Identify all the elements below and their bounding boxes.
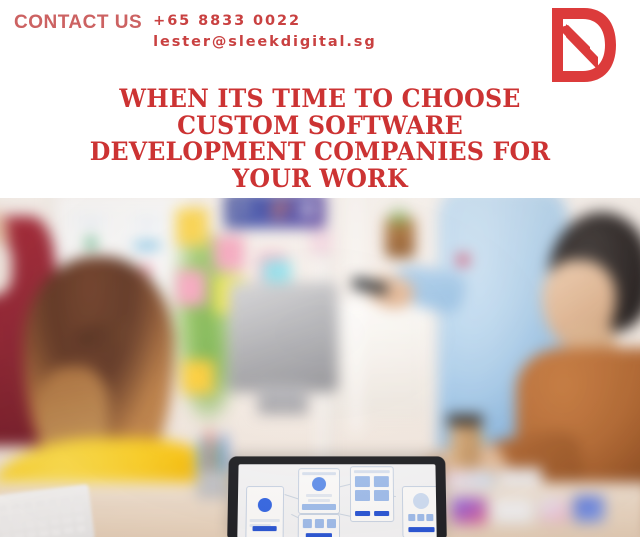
keyboard-keys <box>0 495 86 537</box>
desktop-monitor <box>228 282 338 392</box>
sticky-note <box>214 236 244 270</box>
contact-us-label: CONTACT US <box>14 10 142 36</box>
back-shelf <box>330 302 430 418</box>
laptop <box>227 456 447 537</box>
woman-hair-parting <box>74 318 139 352</box>
printed-design-card <box>492 498 534 524</box>
printed-design-card <box>498 468 542 484</box>
coffee-cup-lid <box>447 414 483 426</box>
window-frame <box>352 198 360 434</box>
hero-photo <box>0 198 640 537</box>
wireframe-screen <box>350 466 394 522</box>
blue-poster <box>225 198 325 228</box>
printed-design-card <box>574 496 604 522</box>
sleek-digital-logo-icon[interactable] <box>546 4 618 86</box>
headline-line-1: WHEN ITS TIME TO CHOOSE <box>22 86 617 113</box>
pen-holder <box>196 444 230 498</box>
wireframe-screen <box>402 486 437 537</box>
headline-line-3: DEVELOPMENT COMPANIES FOR <box>22 139 617 166</box>
contact-block: CONTACT US +65 8833 0022 lester@sleekdig… <box>14 10 377 53</box>
sticky-note <box>176 270 206 306</box>
printed-design-card <box>452 498 486 524</box>
wireframe-screen <box>298 468 340 514</box>
banner-header: CONTACT US +65 8833 0022 lester@sleekdig… <box>0 0 640 198</box>
sticky-note <box>182 360 214 394</box>
headline-line-2: CUSTOM SOFTWARE <box>22 113 617 140</box>
email-address[interactable]: lester@sleekdigital.sg <box>153 32 376 53</box>
coffee-cup <box>450 420 480 468</box>
headline-line-4: YOUR WORK <box>22 166 617 193</box>
sticky-note <box>310 230 332 254</box>
phone-number[interactable]: +65 8833 0022 <box>153 11 376 32</box>
laptop-screen[interactable] <box>237 464 436 537</box>
page-title: WHEN ITS TIME TO CHOOSE CUSTOM SOFTWARE … <box>22 86 617 192</box>
printed-design-card <box>540 498 568 522</box>
pot-foliage <box>386 206 412 226</box>
sticky-note <box>176 208 208 246</box>
printed-design-card <box>444 470 494 488</box>
wireframe-screen <box>245 486 284 537</box>
monitor-stand <box>258 386 308 414</box>
person-maroon-collar <box>0 242 12 296</box>
wireframe-screen <box>298 514 340 537</box>
contact-details: +65 8833 0022 lester@sleekdigital.sg <box>153 11 376 53</box>
shirt-pin <box>457 254 469 266</box>
promo-banner: CONTACT US +65 8833 0022 lester@sleekdig… <box>0 0 640 537</box>
